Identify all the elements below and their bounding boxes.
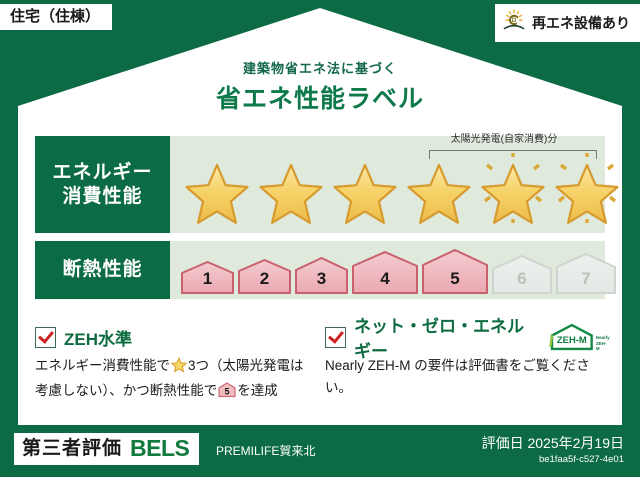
- footer-evaluation-info: 評価日 2025年2月19日 be1faa5f-c527-4e01: [482, 435, 624, 466]
- label-subtitle: 建築物省エネ法に基づく: [0, 58, 640, 77]
- zeh-m-logo: ZEH-M Nearly ZEH-M: [549, 323, 610, 351]
- energy-star-icon: [182, 153, 252, 227]
- insulation-row-body: 1234567: [170, 241, 605, 299]
- zeh-standard-block: ZEH水準 エネルギー消費性能で3つ（太陽光発電は考慮しない）、かつ断熱性能で5…: [35, 325, 315, 406]
- insulation-grade-number: 6: [517, 269, 526, 295]
- insulation-grade-number: 5: [450, 269, 459, 295]
- insulation-grade-3: 3: [294, 257, 349, 295]
- insulation-grade-7: 7: [555, 253, 617, 295]
- net-zero-checkbox[interactable]: [325, 327, 346, 348]
- solar-contribution-note: 太陽光発電(自家消費)分: [409, 134, 599, 145]
- bels-logo-text: BELS: [130, 437, 189, 460]
- net-zero-energy-block: ネット・ゼロ・エネルギー ZEH-M Nearly ZEH-M Nearly Z…: [325, 325, 610, 400]
- bels-certification-box: 第三者評価 BELS: [14, 433, 199, 465]
- evaluation-date: 評価日 2025年2月19日: [482, 435, 624, 452]
- sun-horizon-icon: D: [501, 8, 527, 37]
- svg-text:D: D: [512, 18, 517, 24]
- insulation-grade-scale: 1234567: [180, 245, 595, 295]
- insulation-grade-number: 4: [380, 269, 389, 295]
- insulation-house-5-icon: 5: [218, 382, 236, 405]
- insulation-row-label: 断熱性能: [35, 241, 170, 299]
- insulation-grade-6: 6: [491, 255, 553, 295]
- energy-star-icon: [256, 153, 326, 227]
- insulation-grade-number: 3: [317, 269, 326, 295]
- energy-star-rating: [170, 150, 605, 229]
- energy-label-line2: 消費性能: [62, 185, 142, 209]
- insulation-grade-5: 5: [421, 249, 489, 295]
- energy-label-line1: エネルギー: [52, 161, 152, 185]
- net-zero-heading: ネット・ゼロ・エネルギー ZEH-M Nearly ZEH-M: [325, 325, 610, 349]
- renewable-equipment-badge: D 再エネ設備あり: [495, 4, 640, 42]
- label-title: 省エネ性能ラベル: [0, 79, 640, 115]
- insulation-grade-number: 1: [203, 269, 212, 295]
- zeh-standard-title: ZEH水準: [64, 325, 132, 350]
- insulation-grade-number: 7: [581, 269, 590, 295]
- evaluation-id: be1faa5f-c527-4e01: [482, 454, 624, 466]
- label-footer: 第三者評価 BELS PREMILIFE賀来北 評価日 2025年2月19日 b…: [0, 425, 640, 477]
- energy-star-icon: [404, 153, 474, 227]
- solar-star-icon: [478, 153, 548, 227]
- zeh-text-part1: エネルギー消費性能で: [35, 358, 170, 373]
- solar-star-icon: [552, 153, 622, 227]
- insulation-grade-4: 4: [351, 251, 419, 295]
- zeh-standard-heading: ZEH水準: [35, 325, 315, 349]
- energy-row-label: エネルギー 消費性能: [35, 136, 170, 233]
- energy-performance-row: エネルギー 消費性能 太陽光発電(自家消費)分: [35, 136, 605, 233]
- energy-row-body: 太陽光発電(自家消費)分: [170, 136, 605, 233]
- bels-jp-label: 第三者評価: [22, 439, 122, 458]
- energy-performance-label: 住宅（住棟） D 再エネ設備あり 建築物省エネ法に基づく 省エネ性: [0, 0, 640, 477]
- energy-star-icon: [330, 153, 400, 227]
- svg-text:ZEH-M: ZEH-M: [557, 334, 587, 345]
- zeh-m-logo-sub: Nearly ZEH-M: [596, 335, 610, 351]
- zeh-text-part3: を達成: [237, 383, 278, 398]
- dwelling-type-tag: 住宅（住棟）: [0, 4, 112, 30]
- zeh-standard-description: エネルギー消費性能で3つ（太陽光発電は考慮しない）、かつ断熱性能で5を達成: [35, 355, 315, 406]
- gold-star-icon: [171, 357, 187, 380]
- insulation-grade-number: 2: [260, 269, 269, 295]
- property-name: PREMILIFE賀来北: [216, 445, 315, 457]
- insulation-label-text: 断熱性能: [62, 258, 142, 282]
- insulation-grade-1: 1: [180, 261, 235, 295]
- zeh-standard-checkbox[interactable]: [35, 327, 56, 348]
- renewable-badge-label: 再エネ設備あり: [532, 16, 630, 30]
- net-zero-description: Nearly ZEH-M の要件は評価書をご覧ください。: [325, 355, 610, 400]
- insulation-grade-2: 2: [237, 259, 292, 295]
- svg-text:5: 5: [225, 387, 230, 397]
- zeh-m-sub-line2: ZEH-M: [596, 341, 607, 351]
- insulation-performance-row: 断熱性能 1234567: [35, 241, 605, 299]
